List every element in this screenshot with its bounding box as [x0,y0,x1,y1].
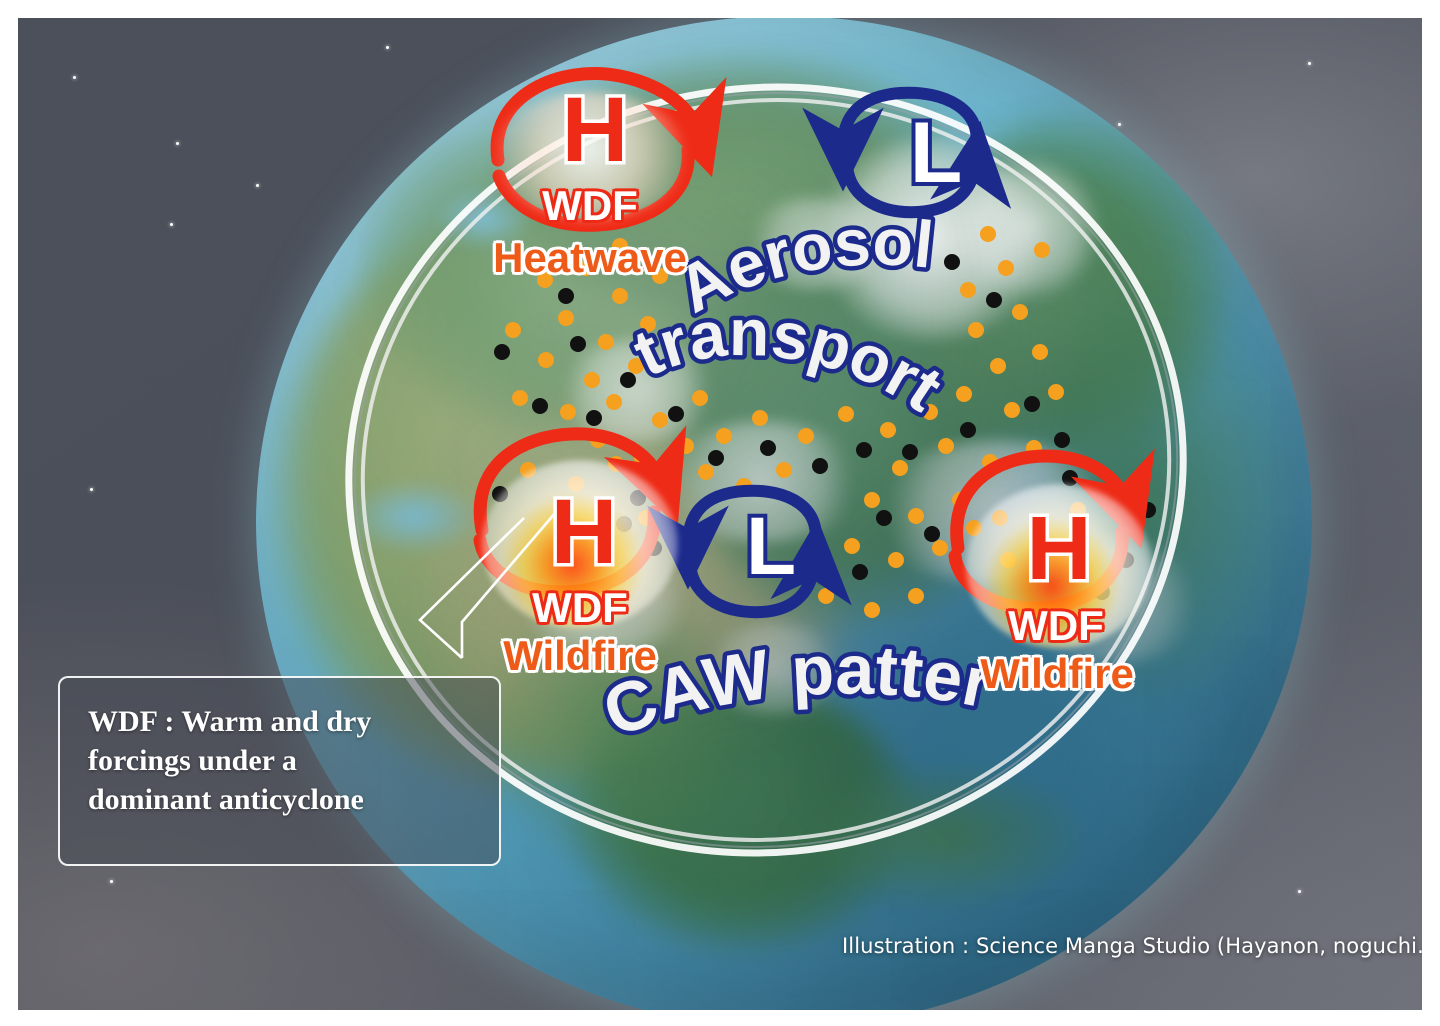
high-pressure-glyph: H [480,84,710,176]
system-name-label: Wildfire [458,632,702,680]
legend-line-3: dominant anticyclone [88,780,477,819]
legend-line-2: forcings under a [88,741,477,780]
star-icon [110,880,113,883]
illustration-credit: Illustration : Science Manga Studio (Hay… [842,934,1422,958]
high-pressure-glyph: H [944,504,1174,594]
wdf-label: WDF [480,182,700,230]
wdf-legend-box: WDF : Warm and dry forcings under a domi… [58,676,501,866]
landmass-islands-south [805,765,1080,907]
system-name-label: Wildfire [938,650,1176,698]
low-pressure-glyph: L [856,110,1016,196]
star-icon [90,488,93,491]
star-icon [170,223,173,226]
cloud-band [552,340,721,441]
legend-text: WDF : Warm and dry forcings under a domi… [88,702,477,819]
system-low-center[interactable]: L [696,490,846,630]
system-wildfire-high-right[interactable]: H WDF Wildfire [944,460,1174,685]
system-wildfire-high-left[interactable]: H WDF Wildfire [464,438,704,668]
system-name-label: Heatwave [470,234,710,282]
space-background: Aerosol transport CAW pattern H WDF Heat… [18,18,1422,1010]
lake-feature [351,482,478,553]
cloud-band [700,623,848,714]
wdf-label: WDF [464,584,696,632]
system-low-upper-right[interactable]: L [856,102,1016,242]
system-heatwave-high[interactable]: H WDF Heatwave [480,66,710,266]
star-icon [176,142,179,145]
high-pressure-glyph: H [464,486,704,578]
star-icon [73,76,76,79]
illustration-canvas: Aerosol transport CAW pattern H WDF Heat… [0,0,1440,1026]
low-pressure-glyph: L [696,506,846,588]
legend-line-1: WDF : Warm and dry [88,702,477,741]
wdf-label: WDF [944,602,1168,650]
